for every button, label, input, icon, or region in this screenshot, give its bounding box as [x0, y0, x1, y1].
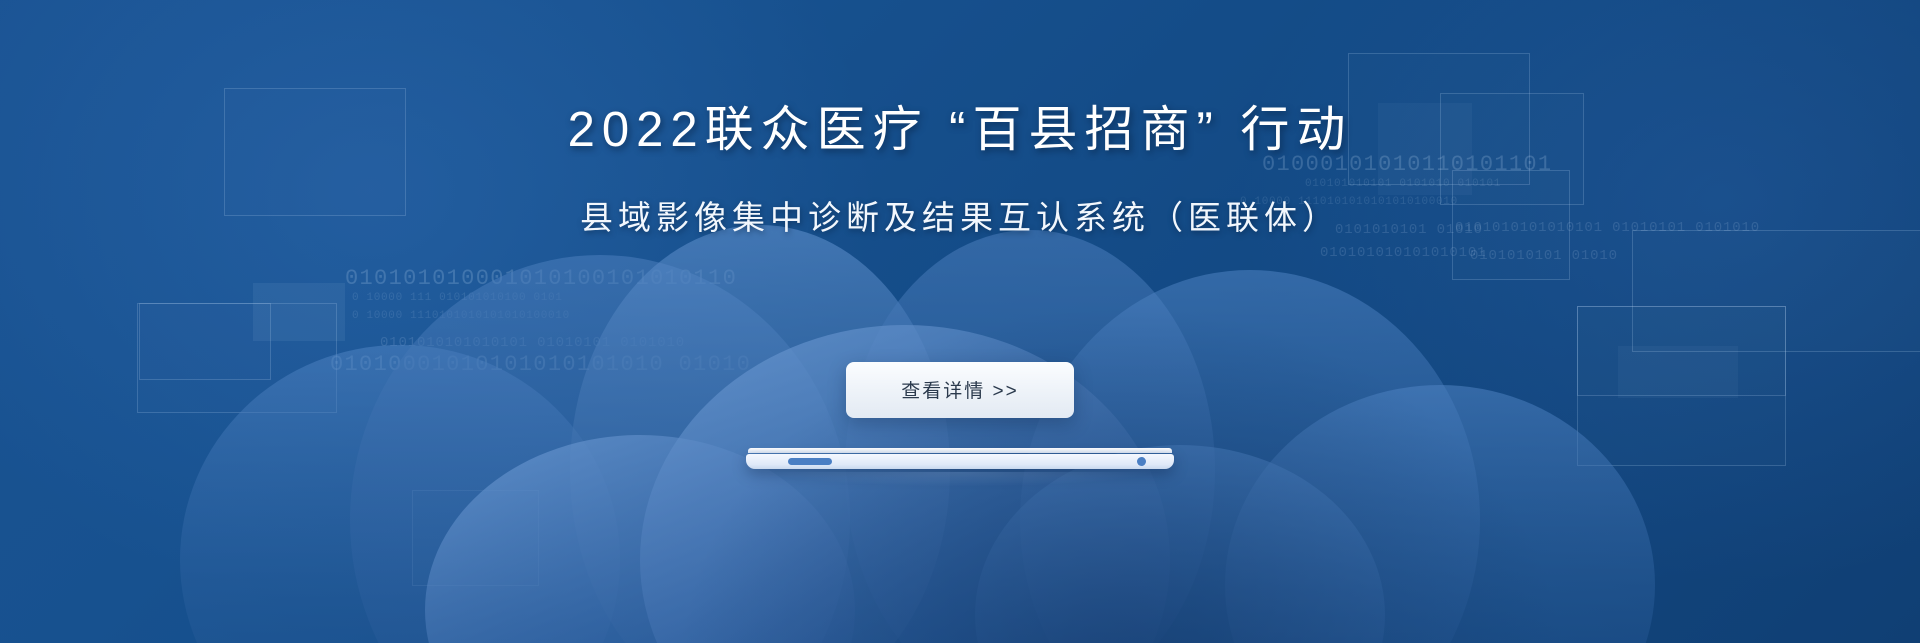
cta-container: 查看详情 >>: [0, 362, 1920, 418]
binary-text-3: 0101010101010101 01010101 0101010: [380, 335, 685, 351]
binary-text-0: 010101010001010100101010110: [345, 266, 737, 291]
decor-rect-outline-far-right: [1632, 230, 1920, 352]
binary-text-1: 0 10000 111 010101010100 0101: [352, 292, 563, 304]
cloud-cluster: [0, 0, 1920, 643]
laptop-indicator-bar: [788, 458, 832, 465]
laptop-indicator-dot: [1137, 457, 1146, 466]
binary-text-9: 010101010101010101: [1320, 245, 1486, 261]
decor-rect-outline-bottom-left: [412, 490, 539, 586]
laptop-lid-edge: [748, 448, 1172, 453]
laptop-base-illustration: [746, 448, 1174, 472]
view-details-button[interactable]: 查看详情 >>: [846, 362, 1074, 418]
background-glow-right: [1220, 0, 1920, 600]
laptop-reflection: [772, 472, 1149, 486]
binary-text-11: 0101010101 01010: [1470, 248, 1618, 264]
headline-block: 2022联众医疗 “百县招商” 行动 县域影像集中诊断及结果互认系统（医联体）: [0, 104, 1920, 237]
binary-text-2: 0 10000 1110101010101010100010: [352, 310, 570, 322]
decor-rect-fill-left: [253, 283, 345, 341]
page-title: 2022联众医疗 “百县招商” 行动: [0, 104, 1920, 158]
page-subtitle: 县域影像集中诊断及结果互认系统（医联体）: [0, 198, 1920, 238]
promo-banner: 010101010001010100101010110 0 10000 111 …: [0, 0, 1920, 643]
background-glow-left: [0, 0, 920, 640]
